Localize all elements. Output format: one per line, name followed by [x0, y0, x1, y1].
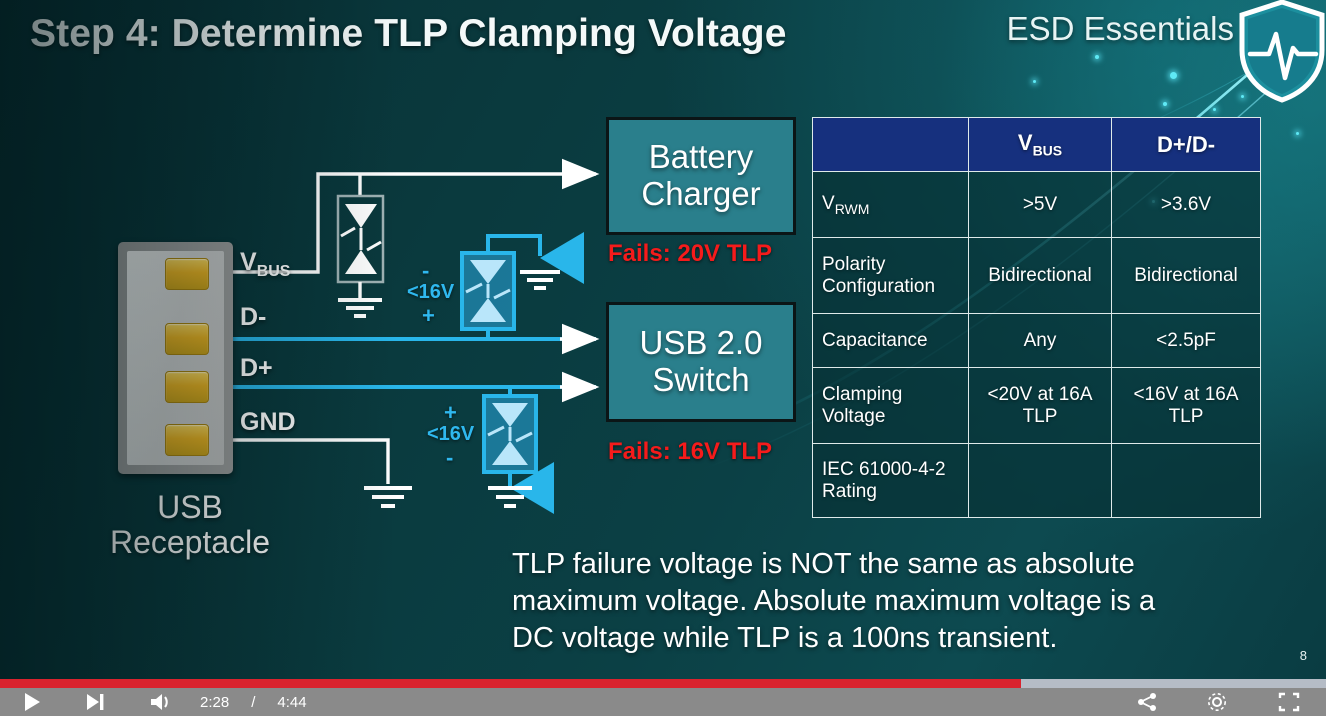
table-row: VRWM >5V >3.6V [813, 172, 1261, 238]
table-row-label: Polarity Configuration [813, 238, 969, 314]
block-switch-line2: Switch [640, 362, 763, 399]
play-icon[interactable] [0, 688, 64, 716]
table-cell-vbus [969, 444, 1112, 518]
fail-note-switch: Fails: 16V TLP [608, 438, 772, 466]
table-cell-data: <16V at 16A TLP [1112, 368, 1261, 444]
net-label-dminus: D- [240, 303, 266, 332]
time-display: 2:28 / 4:44 [196, 688, 307, 716]
table-row: Clamping Voltage <20V at 16A TLP <16V at… [813, 368, 1261, 444]
slide-page-number: 8 [1300, 648, 1307, 663]
table-cell-data [1112, 444, 1261, 518]
net-label-dplus: D+ [240, 354, 273, 383]
settings-icon[interactable] [1182, 688, 1252, 716]
slide-canvas: Step 4: Determine TLP Clamping Voltage E… [0, 0, 1326, 679]
table-header-blank [813, 118, 969, 172]
time-current: 2:28 [200, 694, 229, 711]
usb-pin-dminus [165, 323, 209, 355]
table-cell-vbus: >5V [969, 172, 1112, 238]
block-usb-switch: USB 2.0 Switch [606, 302, 796, 422]
usb-caption-line1: USB [100, 490, 280, 525]
slide-caption: TLP failure voltage is NOT the same as a… [512, 546, 1192, 656]
share-icon[interactable] [1112, 688, 1182, 716]
progress-bar-track[interactable] [0, 679, 1326, 688]
block-switch-line1: USB 2.0 [640, 325, 763, 362]
block-battery-line1: Battery [641, 139, 760, 176]
table-header: VBUS D+/D- [813, 118, 1261, 172]
block-battery-line2: Charger [641, 176, 760, 213]
table-row: Polarity Configuration Bidirectional Bid… [813, 238, 1261, 314]
net-label-vbus: VBUS [240, 248, 290, 281]
tvs-dplus-rating: <16V [427, 423, 474, 446]
table-cell-vbus: <20V at 16A TLP [969, 368, 1112, 444]
usb-pin-dplus [165, 371, 209, 403]
table-row-label: Clamping Voltage [813, 368, 969, 444]
usb-receptacle-caption: USB Receptacle [100, 490, 280, 560]
net-label-vbus-sub: BUS [257, 263, 291, 280]
table-header-vbus-sub: BUS [1033, 143, 1063, 159]
block-battery-charger: Battery Charger [606, 117, 796, 235]
requirements-table: VBUS D+/D- VRWM >5V >3.6V Polarity Confi… [812, 117, 1261, 518]
table-row-label: Capacitance [813, 314, 969, 368]
table-row: IEC 61000-4-2 Rating [813, 444, 1261, 518]
table-body: VRWM >5V >3.6V Polarity Configuration Bi… [813, 172, 1261, 518]
table-row-label: VRWM [813, 172, 969, 238]
table-header-vbus-text: V [1018, 130, 1033, 155]
time-separator: / [251, 694, 255, 711]
video-player-stage: Step 4: Determine TLP Clamping Voltage E… [0, 0, 1326, 716]
table-cell-data: Bidirectional [1112, 238, 1261, 314]
usb-caption-line2: Receptacle [100, 525, 280, 560]
usb-pin-gnd [165, 424, 209, 456]
table-row-label-text: V [822, 193, 835, 214]
player-control-row: 2:28 / 4:44 [0, 688, 1326, 716]
time-total: 4:44 [277, 694, 306, 711]
net-label-gnd: GND [240, 408, 296, 437]
tvs-dminus-sign-bottom: + [422, 303, 435, 329]
fullscreen-icon[interactable] [1252, 688, 1326, 716]
table-header-vbus: VBUS [969, 118, 1112, 172]
usb-pin-vbus [165, 258, 209, 290]
progress-bar-played[interactable] [0, 679, 1021, 688]
table-cell-vbus: Bidirectional [969, 238, 1112, 314]
fail-note-battery: Fails: 20V TLP [608, 240, 772, 268]
table-row: Capacitance Any <2.5pF [813, 314, 1261, 368]
next-icon[interactable] [64, 688, 126, 716]
tvs-dminus-rating: <16V [407, 281, 454, 304]
table-cell-data: >3.6V [1112, 172, 1261, 238]
table-header-data: D+/D- [1112, 118, 1261, 172]
volume-icon[interactable] [126, 688, 196, 716]
video-player-controls[interactable]: 2:28 / 4:44 [0, 679, 1326, 716]
net-label-vbus-text: V [240, 248, 257, 276]
usb-receptacle [118, 242, 233, 474]
table-cell-data: <2.5pF [1112, 314, 1261, 368]
tvs-dplus-sign-bottom: - [446, 445, 453, 471]
table-cell-vbus: Any [969, 314, 1112, 368]
table-row-label: IEC 61000-4-2 Rating [813, 444, 969, 518]
table-row-label-sub: RWM [835, 200, 870, 216]
table-header-row: VBUS D+/D- [813, 118, 1261, 172]
